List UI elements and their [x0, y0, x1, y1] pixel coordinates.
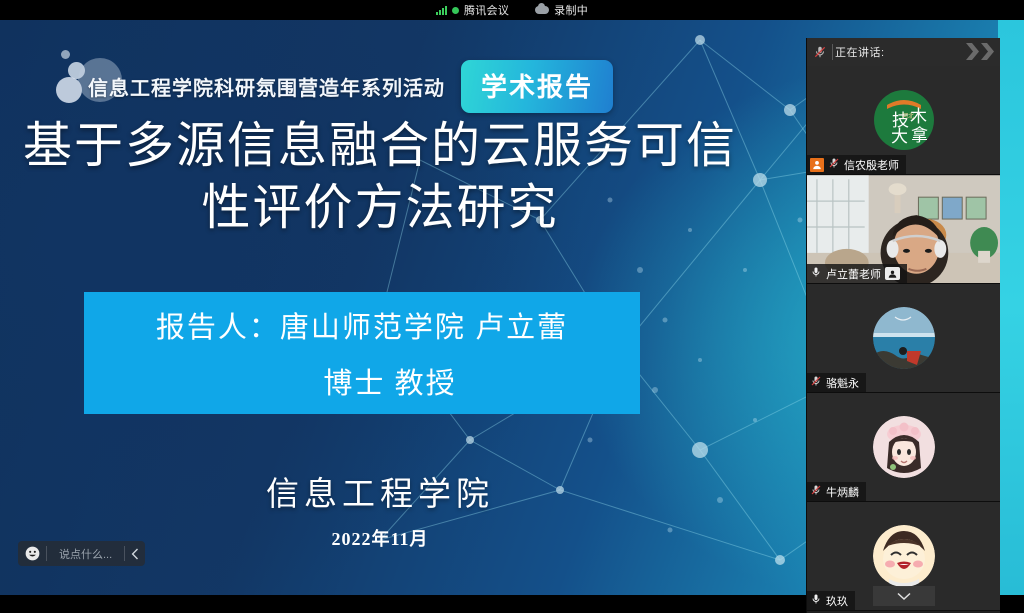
signal-bars-icon: [436, 6, 447, 15]
participant-name: 玖玖: [826, 593, 848, 609]
host-badge-icon: [810, 158, 824, 172]
chevron-left-icon[interactable]: [125, 541, 145, 566]
muted-mic-icon: [810, 374, 822, 392]
chat-input-bar[interactable]: 说点什么...: [18, 541, 145, 566]
ocean-photo-avatar: [873, 307, 935, 369]
speaker-title-line: 博士 教授: [267, 360, 456, 402]
participant-name: 牛炳麟: [826, 484, 859, 500]
slide-title: 基于多源信息融合的云服务可信性评价方法研究: [0, 115, 760, 238]
active-mic-icon: [810, 592, 822, 610]
university-logo-avatar: 技 木 大 拿 河北: [873, 89, 935, 151]
app-name-label: 腾讯会议: [464, 2, 509, 18]
participant-tile[interactable]: 骆魁永: [807, 284, 1000, 393]
participant-name-tag: 信农殷老师: [807, 155, 906, 174]
participant-tile[interactable]: 技 木 大 拿 河北: [807, 66, 1000, 175]
participant-name: 骆魁永: [826, 375, 859, 391]
slide-edge-glow: [998, 20, 1024, 595]
svg-text:河北: 河北: [902, 112, 914, 120]
speaking-label: 正在讲话:: [835, 44, 885, 60]
slide-header-text: 信息工程学院科研氛围营造年系列活动: [88, 72, 445, 101]
participant-panel: 正在讲话: 技 木 大 拿 河北: [806, 38, 1000, 613]
academic-report-badge: 学术报告: [461, 60, 613, 113]
active-mic-icon: [810, 265, 822, 283]
meeting-screen: 腾讯会议 录制中: [0, 0, 1024, 613]
decor-circle-small: [61, 50, 70, 59]
chevron-down-icon[interactable]: [873, 586, 935, 606]
cloud-recording-icon: [535, 6, 549, 14]
video-on-badge-icon: [885, 267, 900, 280]
muted-mic-icon: [810, 483, 822, 501]
participant-name-tag: 卢立蕾老师: [807, 264, 907, 283]
cartoon-girl-avatar: [873, 416, 935, 478]
svg-text:大: 大: [891, 127, 908, 146]
top-status-bar: 腾讯会议 录制中: [0, 0, 1024, 20]
muted-mic-icon: [828, 156, 840, 174]
participant-tile[interactable]: 玖玖: [807, 502, 1000, 611]
participant-tile[interactable]: 牛炳麟: [807, 393, 1000, 502]
smiley-face-icon[interactable]: [18, 541, 46, 566]
speaker-name-line: 报告人：唐山师范学院 卢立蕾: [156, 304, 568, 346]
header-divider: [832, 44, 833, 60]
organization-label: 信息工程学院: [0, 467, 760, 515]
muted-mic-icon: [813, 45, 827, 59]
green-status-dot-icon: [452, 7, 459, 14]
participant-name: 信农殷老师: [844, 157, 899, 173]
participant-name-tag: 玖玖: [807, 591, 855, 610]
participant-name-tag: 牛炳麟: [807, 482, 866, 501]
participant-name: 卢立蕾老师: [826, 266, 881, 282]
cartoon-laughing-face-avatar: [873, 525, 935, 587]
svg-text:拿: 拿: [911, 125, 928, 145]
app-status-group: 腾讯会议: [436, 2, 509, 18]
speaker-info-box: 报告人：唐山师范学院 卢立蕾 博士 教授: [84, 292, 640, 414]
recording-status-group: 录制中: [535, 2, 588, 18]
participant-tile[interactable]: 卢立蕾老师: [807, 175, 1000, 284]
speaking-header: 正在讲话:: [807, 38, 1000, 66]
slide-header: 信息工程学院科研氛围营造年系列活动 学术报告: [88, 60, 613, 113]
recording-label: 录制中: [554, 2, 588, 18]
chat-input-placeholder[interactable]: 说点什么...: [47, 541, 124, 566]
double-chevron-right-icon[interactable]: [966, 43, 994, 60]
participant-name-tag: 骆魁永: [807, 373, 866, 392]
